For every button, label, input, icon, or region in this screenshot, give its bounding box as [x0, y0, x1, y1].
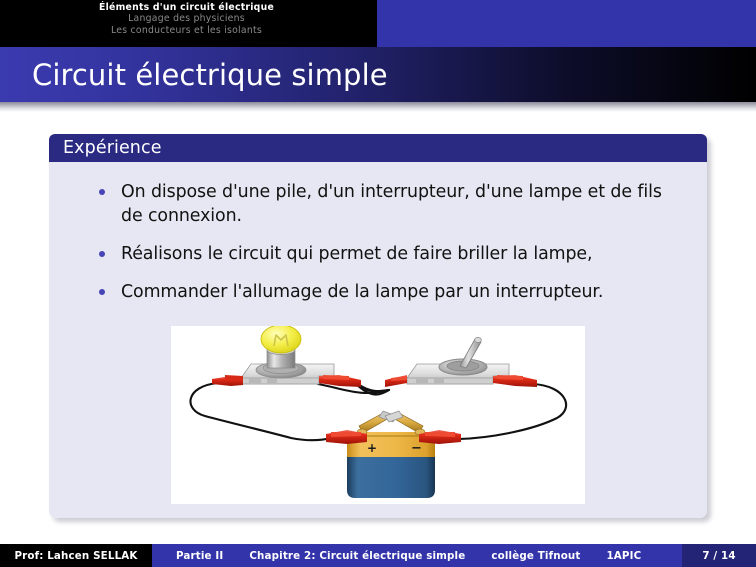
- block-header-title: Expérience: [63, 138, 162, 158]
- block-header: Expérience: [49, 134, 707, 162]
- footer-part: Partie II: [176, 550, 223, 562]
- footer-chapter: Chapitre 2: Circuit électrique simple: [249, 550, 465, 562]
- footer-author: Prof: Lahcen SELLAK: [0, 544, 152, 567]
- block-body: On dispose d'une pile, d'un interrupteur…: [49, 162, 707, 518]
- footer-bar: Prof: Lahcen SELLAK Partie II Chapitre 2…: [0, 544, 756, 567]
- footer-level: 1APIC: [606, 550, 641, 562]
- page-title: Circuit électrique simple: [32, 58, 388, 92]
- nav-item-langage-physiciens[interactable]: Langage des physiciens: [0, 13, 373, 24]
- list-item-text: Commander l'allumage de la lampe par un …: [121, 282, 603, 302]
- footer-middle: Partie II Chapitre 2: Circuit électrique…: [152, 544, 682, 567]
- list-item: On dispose d'une pile, d'un interrupteur…: [97, 180, 683, 228]
- alligator-clip-battery-right: [419, 430, 461, 444]
- navigation-bar-accent: [377, 0, 756, 47]
- battery-negative-label: −: [411, 441, 422, 456]
- list-item-text: Réalisons le circuit qui permet de faire…: [121, 244, 592, 264]
- list-item: Commander l'allumage de la lampe par un …: [97, 280, 683, 304]
- alligator-clip-battery-left: [326, 430, 367, 444]
- list-item: Réalisons le circuit qui permet de faire…: [97, 242, 683, 266]
- figure-container: + −: [65, 326, 691, 504]
- navigation-bar: Éléments d'un circuit électrique Langage…: [0, 0, 756, 47]
- bullet-dot-icon: [99, 189, 105, 195]
- frame-title-bar: Circuit électrique simple: [0, 47, 756, 102]
- bullet-dot-icon: [99, 251, 105, 257]
- bullet-list: On dispose d'une pile, d'un interrupteur…: [65, 180, 691, 304]
- nav-item-conducteurs-isolants[interactable]: Les conducteurs et les isolants: [0, 25, 373, 36]
- battery-positive-label: +: [367, 441, 377, 455]
- footer-page-number: 7 / 14: [682, 544, 756, 567]
- bullet-dot-icon: [99, 289, 105, 295]
- navigation-section-list: Éléments d'un circuit électrique Langage…: [0, 2, 373, 36]
- experience-block: Expérience On dispose d'une pile, d'un i…: [49, 134, 707, 518]
- title-bar-shadow: [0, 102, 756, 112]
- footer-school: collège Tifnout: [491, 550, 580, 562]
- list-item-text: On dispose d'une pile, d'un interrupteur…: [121, 182, 662, 226]
- nav-item-elements-circuit[interactable]: Éléments d'un circuit électrique: [0, 2, 373, 13]
- circuit-diagram-image: + −: [171, 326, 585, 504]
